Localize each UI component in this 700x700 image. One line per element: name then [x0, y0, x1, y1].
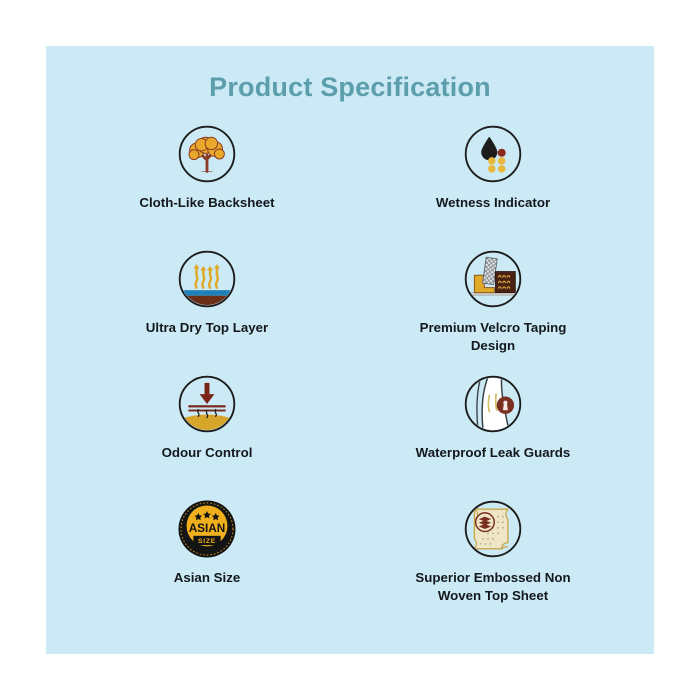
product-specification-panel: Product Specification Cloth-Like Backshe…: [46, 46, 654, 654]
feature-item-premium-velcro-taping-design: Premium Velcro Taping Design: [350, 248, 636, 373]
odour-control-arrow-icon: [176, 373, 238, 435]
tree-icon: [176, 123, 238, 185]
feature-label: Cloth-Like Backsheet: [139, 194, 274, 212]
feature-item-odour-control: Odour Control: [64, 373, 350, 498]
feature-item-waterproof-leak-guards: Waterproof Leak Guards: [350, 373, 636, 498]
velcro-tape-icon: [462, 248, 524, 310]
asian-size-badge-icon: ASIAN SIZE: [176, 498, 238, 560]
feature-item-superior-embossed-non-woven-top-sheet: Superior Embossed Non Woven Top Sheet: [350, 498, 636, 623]
page-title: Product Specification: [46, 46, 654, 103]
embossed-sheet-icon: [462, 498, 524, 560]
feature-label: Odour Control: [162, 444, 253, 462]
feature-item-asian-size: ASIAN SIZE Asian Size: [64, 498, 350, 623]
size-badge-text: SIZE: [198, 538, 216, 545]
feature-label: Ultra Dry Top Layer: [146, 319, 268, 337]
asian-badge-text: ASIAN: [189, 522, 226, 535]
feature-label: Asian Size: [174, 569, 241, 587]
feature-label: Superior Embossed Non Woven Top Sheet: [403, 569, 583, 606]
feature-item-cloth-like-backsheet: Cloth-Like Backsheet: [64, 123, 350, 248]
feature-item-wetness-indicator: Wetness Indicator: [350, 123, 636, 248]
feature-label: Wetness Indicator: [436, 194, 550, 212]
leak-guard-lock-icon: [462, 373, 524, 435]
water-droplet-indicator-icon: [462, 123, 524, 185]
dry-airflow-icon: [176, 248, 238, 310]
feature-label: Waterproof Leak Guards: [416, 444, 571, 462]
feature-label: Premium Velcro Taping Design: [403, 319, 583, 356]
feature-grid: Cloth-Like Backsheet Wetness Indicator: [46, 123, 654, 623]
feature-item-ultra-dry-top-layer: Ultra Dry Top Layer: [64, 248, 350, 373]
